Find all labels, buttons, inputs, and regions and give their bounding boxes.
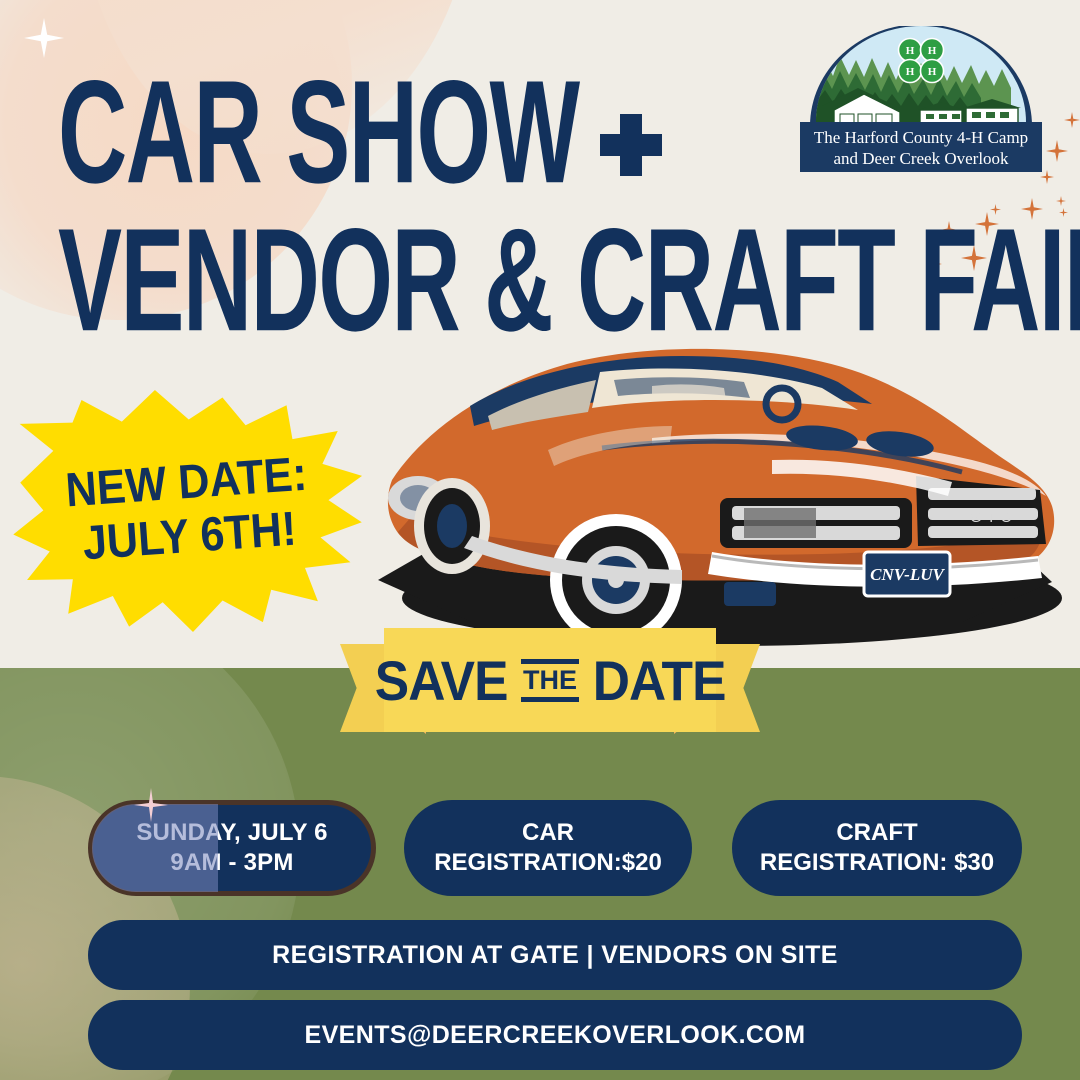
logo-line-2: and Deer Creek Overlook [833, 149, 1009, 168]
classic-car-illustration: GTO CNV-LUV [352, 330, 1064, 650]
pill-craft-line-2: REGISTRATION: $30 [760, 848, 994, 878]
pill-car-registration[interactable]: CAR REGISTRATION:$20 [404, 800, 692, 896]
svg-text:H: H [928, 45, 937, 57]
starburst-text: NEW DATE: JULY 6TH! [4, 376, 372, 644]
poster-canvas: CAR SHOW VENDOR & CRAFT FAIR [0, 0, 1080, 1080]
ribbon-body: SAVE THE DATE [384, 628, 716, 732]
pill-craft-registration[interactable]: CRAFT REGISTRATION: $30 [732, 800, 1022, 896]
pill-car-text: CAR REGISTRATION:$20 [434, 818, 662, 878]
headline-line-1: CAR SHOW [58, 48, 579, 216]
license-plate-text: CNV-LUV [870, 565, 945, 584]
sparkle-icon [1040, 170, 1054, 184]
pill-date-line-2: 9AM - 3PM [136, 848, 327, 878]
plus-icon [600, 114, 662, 176]
burst-line-2: JULY 6TH! [82, 505, 299, 570]
sparkle-icon [1046, 140, 1068, 162]
svg-text:H: H [928, 66, 937, 78]
pill-date-text: SUNDAY, JULY 6 9AM - 3PM [136, 818, 327, 878]
ribbon-word-the: THE [523, 660, 577, 701]
pill-date[interactable]: SUNDAY, JULY 6 9AM - 3PM [88, 800, 376, 896]
registration-info-bar[interactable]: REGISTRATION AT GATE | VENDORS ON SITE [88, 920, 1022, 990]
svg-text:H: H [906, 66, 915, 78]
pill-craft-line-1: CRAFT [760, 818, 994, 848]
pill-date-line-1: SUNDAY, JULY 6 [136, 818, 327, 848]
pill-car-line-2: REGISTRATION:$20 [434, 848, 662, 878]
sparkle-icon [1064, 112, 1080, 128]
svg-text:H: H [906, 45, 915, 57]
organization-logo: H H H H [800, 26, 1042, 172]
save-the-date-ribbon: SAVE THE DATE [340, 628, 760, 750]
new-date-starburst-badge: NEW DATE: JULY 6TH! [4, 376, 372, 644]
car-badge-text: GTO [970, 509, 1017, 526]
pill-craft-text: CRAFT REGISTRATION: $30 [760, 818, 994, 878]
pill-car-line-1: CAR [434, 818, 662, 848]
sparkle-icon [134, 788, 168, 822]
ribbon-word-save: SAVE [374, 648, 507, 713]
email-contact-bar[interactable]: EVENTS@DEERCREEKOVERLOOK.COM [88, 1000, 1022, 1070]
ribbon-word-date: DATE [593, 648, 726, 713]
logo-line-1: The Harford County 4-H Camp [814, 128, 1028, 147]
